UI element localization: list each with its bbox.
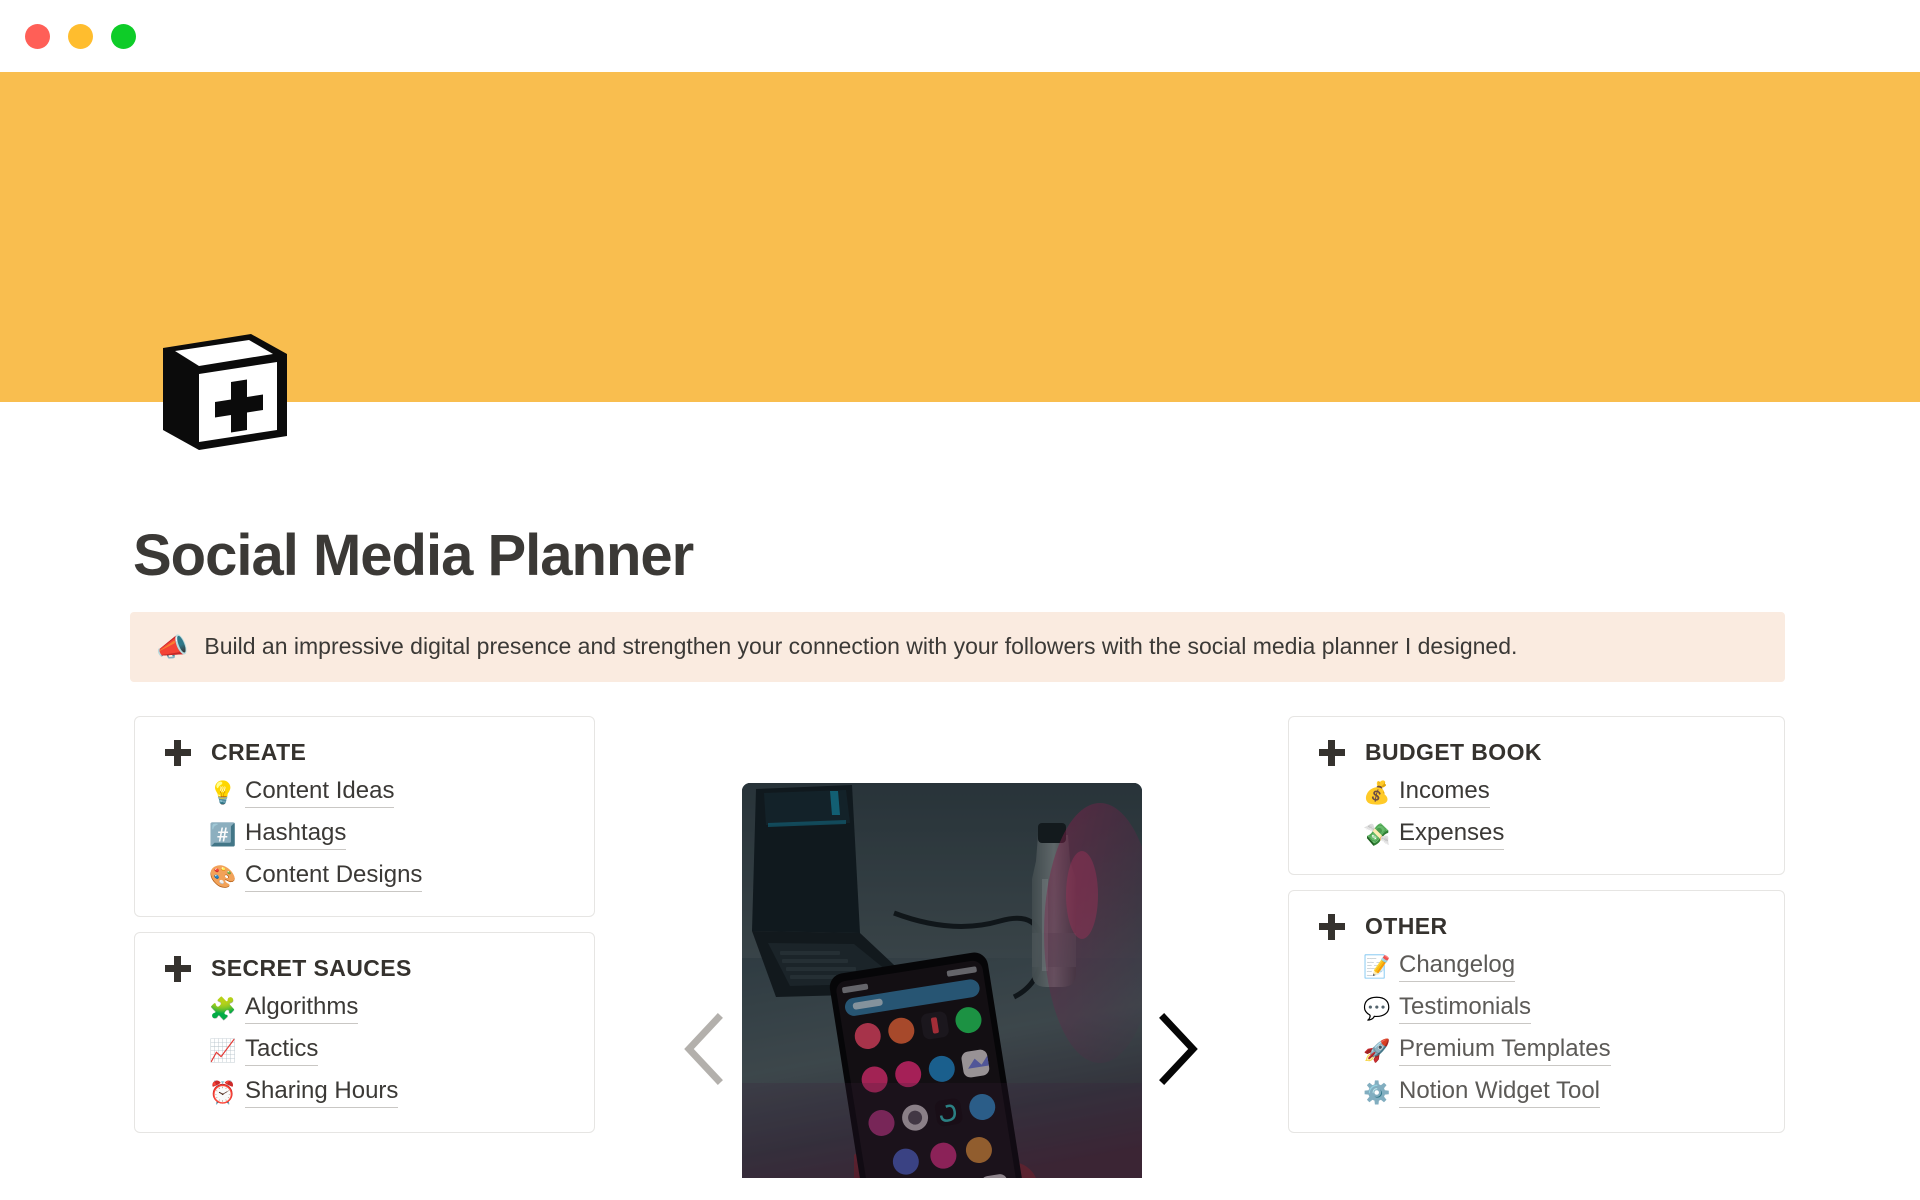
- list-item[interactable]: 💸 Expenses: [1363, 819, 1784, 850]
- list-item[interactable]: 📈 Tactics: [209, 1035, 594, 1066]
- link-notion-widget-tool[interactable]: Notion Widget Tool: [1399, 1077, 1600, 1108]
- link-testimonials[interactable]: Testimonials: [1399, 993, 1531, 1024]
- link-incomes[interactable]: Incomes: [1399, 777, 1490, 808]
- link-hashtags[interactable]: Hashtags: [245, 819, 346, 850]
- cube-plus-icon: [155, 318, 295, 458]
- hashtag-icon: #️⃣: [209, 824, 239, 846]
- card-secret-sauces: SECRET SAUCES 🧩 Algorithms 📈 Tactics ⏰ S…: [134, 932, 595, 1133]
- card-title: OTHER: [1365, 913, 1448, 940]
- card-other: OTHER 📝 Changelog 💬 Testimonials 🚀 Premi…: [1288, 890, 1785, 1133]
- palette-icon: 🎨: [209, 866, 239, 888]
- list-item[interactable]: 💡 Content Ideas: [209, 777, 594, 808]
- callout-banner: 📣 Build an impressive digital presence a…: [130, 612, 1785, 682]
- card-budget-book-links: 💰 Incomes 💸 Expenses: [1289, 777, 1784, 850]
- link-content-designs[interactable]: Content Designs: [245, 861, 422, 892]
- card-budget-book-header[interactable]: BUDGET BOOK: [1289, 739, 1784, 766]
- chart-increasing-icon: 📈: [209, 1040, 239, 1062]
- list-item[interactable]: 💰 Incomes: [1363, 777, 1784, 808]
- list-item[interactable]: #️⃣ Hashtags: [209, 819, 594, 850]
- link-content-ideas[interactable]: Content Ideas: [245, 777, 394, 808]
- puzzle-piece-icon: 🧩: [209, 998, 239, 1020]
- card-secret-sauces-header[interactable]: SECRET SAUCES: [135, 955, 594, 982]
- card-title: SECRET SAUCES: [211, 955, 412, 982]
- gear-icon: ⚙️: [1363, 1082, 1393, 1104]
- plus-icon: [165, 740, 191, 766]
- memo-icon: 📝: [1363, 956, 1393, 978]
- link-tactics[interactable]: Tactics: [245, 1035, 318, 1066]
- chevron-left-icon[interactable]: [676, 1010, 736, 1088]
- card-create: CREATE 💡 Content Ideas #️⃣ Hashtags 🎨 Co…: [134, 716, 595, 917]
- alarm-clock-icon: ⏰: [209, 1082, 239, 1104]
- rocket-icon: 🚀: [1363, 1040, 1393, 1062]
- list-item[interactable]: ⏰ Sharing Hours: [209, 1077, 594, 1108]
- card-title: BUDGET BOOK: [1365, 739, 1542, 766]
- callout-text: Build an impressive digital presence and…: [204, 631, 1517, 662]
- list-item[interactable]: 💬 Testimonials: [1363, 993, 1784, 1024]
- link-expenses[interactable]: Expenses: [1399, 819, 1504, 850]
- link-sharing-hours[interactable]: Sharing Hours: [245, 1077, 398, 1108]
- list-item[interactable]: ⚙️ Notion Widget Tool: [1363, 1077, 1784, 1108]
- carousel-photo: [742, 783, 1142, 1200]
- plus-icon: [165, 956, 191, 982]
- page-bottom-spacer: [0, 1178, 1920, 1200]
- link-premium-templates[interactable]: Premium Templates: [1399, 1035, 1611, 1066]
- megaphone-icon: 📣: [156, 634, 188, 660]
- lightbulb-icon: 💡: [209, 782, 239, 804]
- plus-icon: [1319, 740, 1345, 766]
- chevron-right-icon[interactable]: [1146, 1010, 1206, 1088]
- close-window-button[interactable]: [25, 24, 50, 49]
- list-item[interactable]: 🧩 Algorithms: [209, 993, 594, 1024]
- maximize-window-button[interactable]: [111, 24, 136, 49]
- list-item[interactable]: 🚀 Premium Templates: [1363, 1035, 1784, 1066]
- page-title: Social Media Planner: [133, 522, 693, 589]
- card-title: CREATE: [211, 739, 306, 766]
- list-item[interactable]: 📝 Changelog: [1363, 951, 1784, 982]
- link-changelog[interactable]: Changelog: [1399, 951, 1515, 982]
- plus-icon: [1319, 914, 1345, 940]
- speech-balloon-icon: 💬: [1363, 998, 1393, 1020]
- card-create-links: 💡 Content Ideas #️⃣ Hashtags 🎨 Content D…: [135, 777, 594, 892]
- window-titlebar: [0, 0, 1920, 72]
- card-other-links: 📝 Changelog 💬 Testimonials 🚀 Premium Tem…: [1289, 951, 1784, 1108]
- money-with-wings-icon: 💸: [1363, 824, 1393, 846]
- card-secret-sauces-links: 🧩 Algorithms 📈 Tactics ⏰ Sharing Hours: [135, 993, 594, 1108]
- card-other-header[interactable]: OTHER: [1289, 913, 1784, 940]
- minimize-window-button[interactable]: [68, 24, 93, 49]
- card-create-header[interactable]: CREATE: [135, 739, 594, 766]
- link-algorithms[interactable]: Algorithms: [245, 993, 358, 1024]
- image-carousel: [680, 770, 1200, 1200]
- money-bag-icon: 💰: [1363, 782, 1393, 804]
- list-item[interactable]: 🎨 Content Designs: [209, 861, 594, 892]
- card-budget-book: BUDGET BOOK 💰 Incomes 💸 Expenses: [1288, 716, 1785, 875]
